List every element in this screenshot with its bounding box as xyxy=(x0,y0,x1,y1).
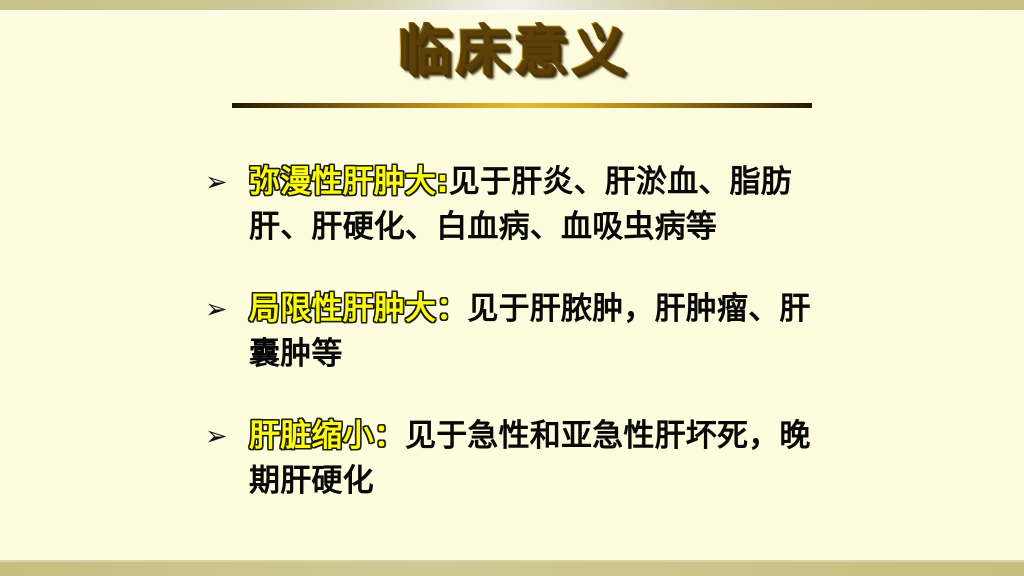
arrow-bullet-icon: ➢ xyxy=(205,287,249,332)
presentation-slide: 临床意义 ➢弥漫性肝肿大:见于肝炎、肝淤血、脂肪肝、肝硬化、白血病、血吸虫病等 … xyxy=(0,0,1024,576)
title-divider-rule xyxy=(232,103,812,108)
list-item-highlight: 肝脏缩小： xyxy=(249,418,405,454)
slide-title-container: 临床意义 xyxy=(0,22,1024,79)
arrow-bullet-icon: ➢ xyxy=(205,160,249,205)
top-border-bar xyxy=(0,0,1024,10)
list-item-highlight: 弥漫性肝肿大: xyxy=(249,164,449,200)
top-border-sheen xyxy=(0,10,1024,13)
list-item: ➢弥漫性肝肿大:见于肝炎、肝淤血、脂肪肝、肝硬化、白血病、血吸虫病等 xyxy=(205,160,825,250)
bullet-list: ➢弥漫性肝肿大:见于肝炎、肝淤血、脂肪肝、肝硬化、白血病、血吸虫病等 ➢局限性肝… xyxy=(205,160,825,504)
page-title: 临床意义 xyxy=(396,22,628,79)
list-item-highlight: 局限性肝肿大： xyxy=(249,291,467,327)
arrow-bullet-icon: ➢ xyxy=(205,414,249,459)
list-item: ➢肝脏缩小：见于急性和亚急性肝坏死，晚期肝硬化 xyxy=(205,414,825,504)
bottom-border-bar xyxy=(0,562,1024,576)
list-item: ➢局限性肝肿大：见于肝脓肿，肝肿瘤、肝囊肿等 xyxy=(205,287,825,377)
